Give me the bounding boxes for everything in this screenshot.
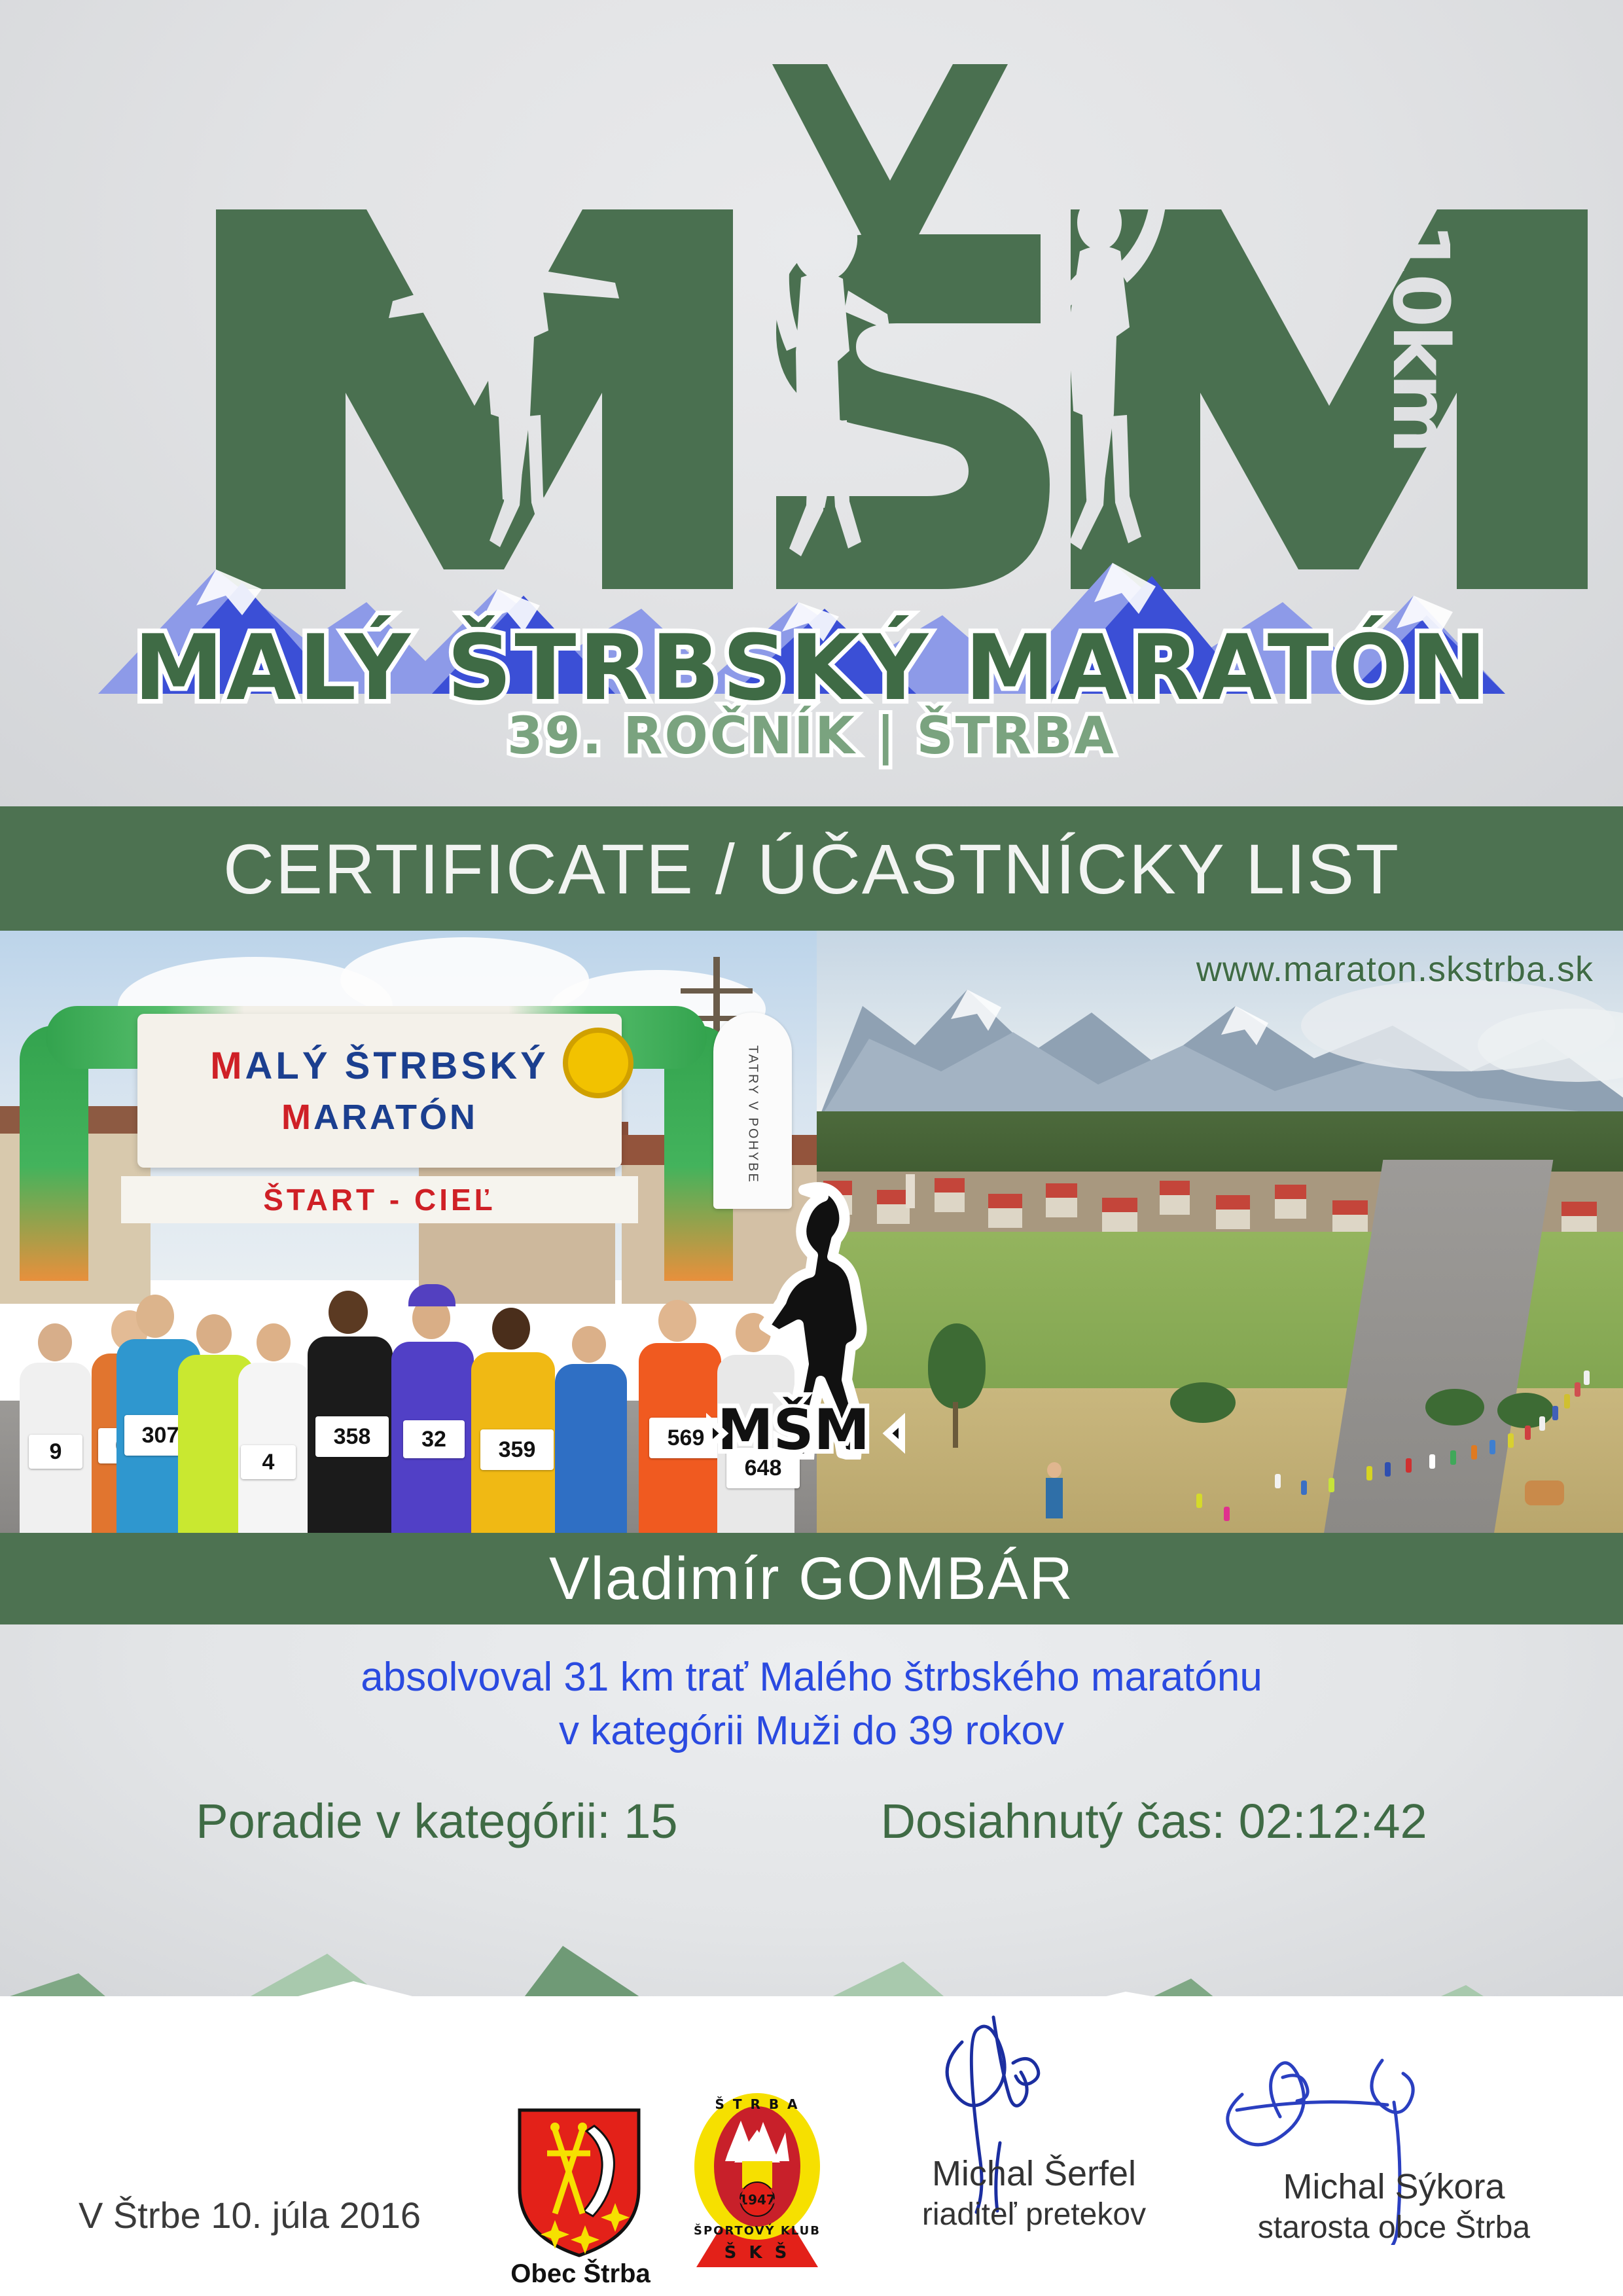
club-bottom-text: Š K Š	[724, 2242, 791, 2263]
msm-logo-svg: 31km 10km	[0, 26, 1623, 589]
badge-arrow-right	[887, 1420, 902, 1446]
start-finish-banner: ŠTART - CIEĽ	[121, 1176, 638, 1223]
runner-bib: 358	[315, 1416, 389, 1457]
runner-bib: 32	[403, 1420, 465, 1458]
distant-runner	[1471, 1445, 1477, 1460]
runner-bib: 9	[29, 1435, 82, 1469]
municipality-caption: Obec Štrba	[499, 2259, 662, 2289]
distant-runner	[1366, 1466, 1372, 1480]
distant-runner	[1329, 1478, 1334, 1492]
website-url[interactable]: www.maraton.skstrba.sk	[1196, 949, 1594, 990]
runner-head	[257, 1323, 291, 1361]
countryside-road-photo: www.maraton.skstrba.sk	[817, 931, 1623, 1533]
category-rank-value: 15	[624, 1794, 677, 1848]
participant-name-band: Vladimír GOMBÁR	[0, 1533, 1623, 1624]
sponsor-badge-icon	[563, 1028, 633, 1098]
distant-runner	[1489, 1440, 1495, 1454]
msm-logo: 31km 10km	[0, 26, 1623, 569]
club-year: 1947	[739, 2192, 776, 2208]
race-title: MALÝ ŠTRBSKÝ MARATÓN	[0, 615, 1623, 721]
finish-time-value: 02:12:42	[1239, 1794, 1427, 1848]
arch-banner-line2-initial: M	[281, 1098, 313, 1137]
arch-banner-line2-rest: ARATÓN	[313, 1098, 478, 1137]
tree-trunk	[953, 1402, 958, 1448]
spectator-head	[1047, 1462, 1061, 1478]
director-role: riaditeľ pretekov	[864, 2197, 1204, 2233]
badge-text: MŠM	[717, 1397, 870, 1460]
signature-block-mayor: Michal Sýkora starosta obce Štrba	[1224, 2166, 1564, 2246]
runner-head	[196, 1314, 232, 1354]
distant-runner	[1584, 1371, 1590, 1385]
finish-time-label: Dosiahnutý čas:	[881, 1794, 1226, 1848]
distant-runner	[1406, 1458, 1412, 1473]
issue-date: V Štrbe 10. júla 2016	[79, 2194, 421, 2236]
distant-runner	[1275, 1474, 1281, 1488]
cow	[1525, 1480, 1564, 1505]
category-rank: Poradie v kategórii: 15	[196, 1793, 677, 1849]
distant-runner	[1575, 1382, 1580, 1397]
distant-runner	[1525, 1426, 1531, 1440]
race-subtitle: 39. ROČNÍK | ŠTRBA	[0, 707, 1623, 766]
sponsor-flag-text: TATRY V POHYBE	[745, 1045, 760, 1184]
arch-banner-line2: MARATÓN	[281, 1097, 478, 1138]
certificate-page: 31km 10km	[0, 0, 1623, 2296]
runner-head	[136, 1295, 174, 1338]
distant-runner	[1450, 1450, 1456, 1465]
mayor-name: Michal Sýkora	[1224, 2166, 1564, 2207]
distant-runner	[1539, 1416, 1545, 1431]
arch-banner-line1-rest: ALÝ ŠTRBSKÝ	[245, 1045, 549, 1087]
bush	[1425, 1389, 1484, 1426]
description-line-1: absolvoval 31 km trať Malého štrbského m…	[0, 1651, 1623, 1704]
results-row: Poradie v kategórii: 15 Dosiahnutý čas: …	[0, 1793, 1623, 1849]
distant-runner	[1196, 1494, 1202, 1508]
runner-head	[38, 1323, 72, 1361]
runner-bib: 359	[480, 1429, 554, 1470]
arch-banner-line1-initial: M	[210, 1045, 245, 1087]
msm-runner-badge: MŠM	[705, 1172, 908, 1460]
certificate-title: CERTIFICATE / ÚČASTNÍCKY LIST	[223, 828, 1400, 910]
msm-runner-badge-svg: MŠM	[705, 1172, 908, 1460]
certificate-title-band: CERTIFICATE / ÚČASTNÍCKY LIST	[0, 806, 1623, 931]
achievement-description: absolvoval 31 km trať Malého štrbského m…	[0, 1651, 1623, 1758]
sks-strba-club-logo: 1947 Š T R B A ŠPORTOVÝ KLUB Š K Š	[687, 2089, 828, 2272]
distant-runner	[1552, 1406, 1558, 1420]
director-name: Michal Šerfel	[864, 2153, 1204, 2194]
arch-banner-line1: MALÝ ŠTRBSKÝ	[210, 1044, 549, 1088]
utility-pole-crossbar	[681, 988, 753, 994]
description-line-2: v kategórii Muži do 39 rokov	[0, 1704, 1623, 1758]
distant-runner	[1224, 1507, 1230, 1521]
mayor-role: starosta obce Štrba	[1224, 2210, 1564, 2246]
tatra-mountains	[817, 967, 1623, 1123]
obec-strba-crest-svg	[517, 2108, 641, 2258]
distant-runner	[1429, 1454, 1435, 1469]
bush	[1497, 1393, 1554, 1428]
runner-head	[329, 1291, 368, 1334]
club-ring-text: ŠPORTOVÝ KLUB	[694, 2223, 821, 2238]
club-top-text: Š T R B A	[715, 2096, 799, 2112]
category-rank-label: Poradie v kategórii:	[196, 1794, 610, 1848]
tree	[928, 1323, 986, 1408]
runner-head	[658, 1300, 696, 1342]
participant-name: Vladimír GOMBÁR	[549, 1545, 1074, 1613]
distant-runner	[1385, 1462, 1391, 1477]
start-line-photo: MALÝ ŠTRBSKÝ MARATÓN ŠTART - CIEĽ TATRY …	[0, 931, 817, 1533]
distant-runner	[1301, 1480, 1307, 1495]
distant-runner	[1564, 1394, 1570, 1408]
runner-head	[492, 1308, 530, 1350]
bush	[1170, 1382, 1236, 1423]
sks-strba-club-logo-svg: 1947 Š T R B A ŠPORTOVÝ KLUB Š K Š	[687, 2089, 828, 2272]
obec-strba-crest	[517, 2108, 641, 2258]
hero-header: 31km 10km	[0, 0, 1623, 806]
signature-block-director: Michal Šerfel riaditeľ pretekov	[864, 2153, 1204, 2233]
finish-time: Dosiahnutý čas: 02:12:42	[881, 1793, 1427, 1849]
spectator	[1046, 1478, 1063, 1518]
arch-banner: MALÝ ŠTRBSKÝ MARATÓN	[137, 1014, 622, 1168]
runner-head	[572, 1326, 606, 1363]
runner	[555, 1364, 627, 1533]
runner-bib: 4	[241, 1445, 296, 1479]
distant-runner	[1508, 1433, 1514, 1448]
